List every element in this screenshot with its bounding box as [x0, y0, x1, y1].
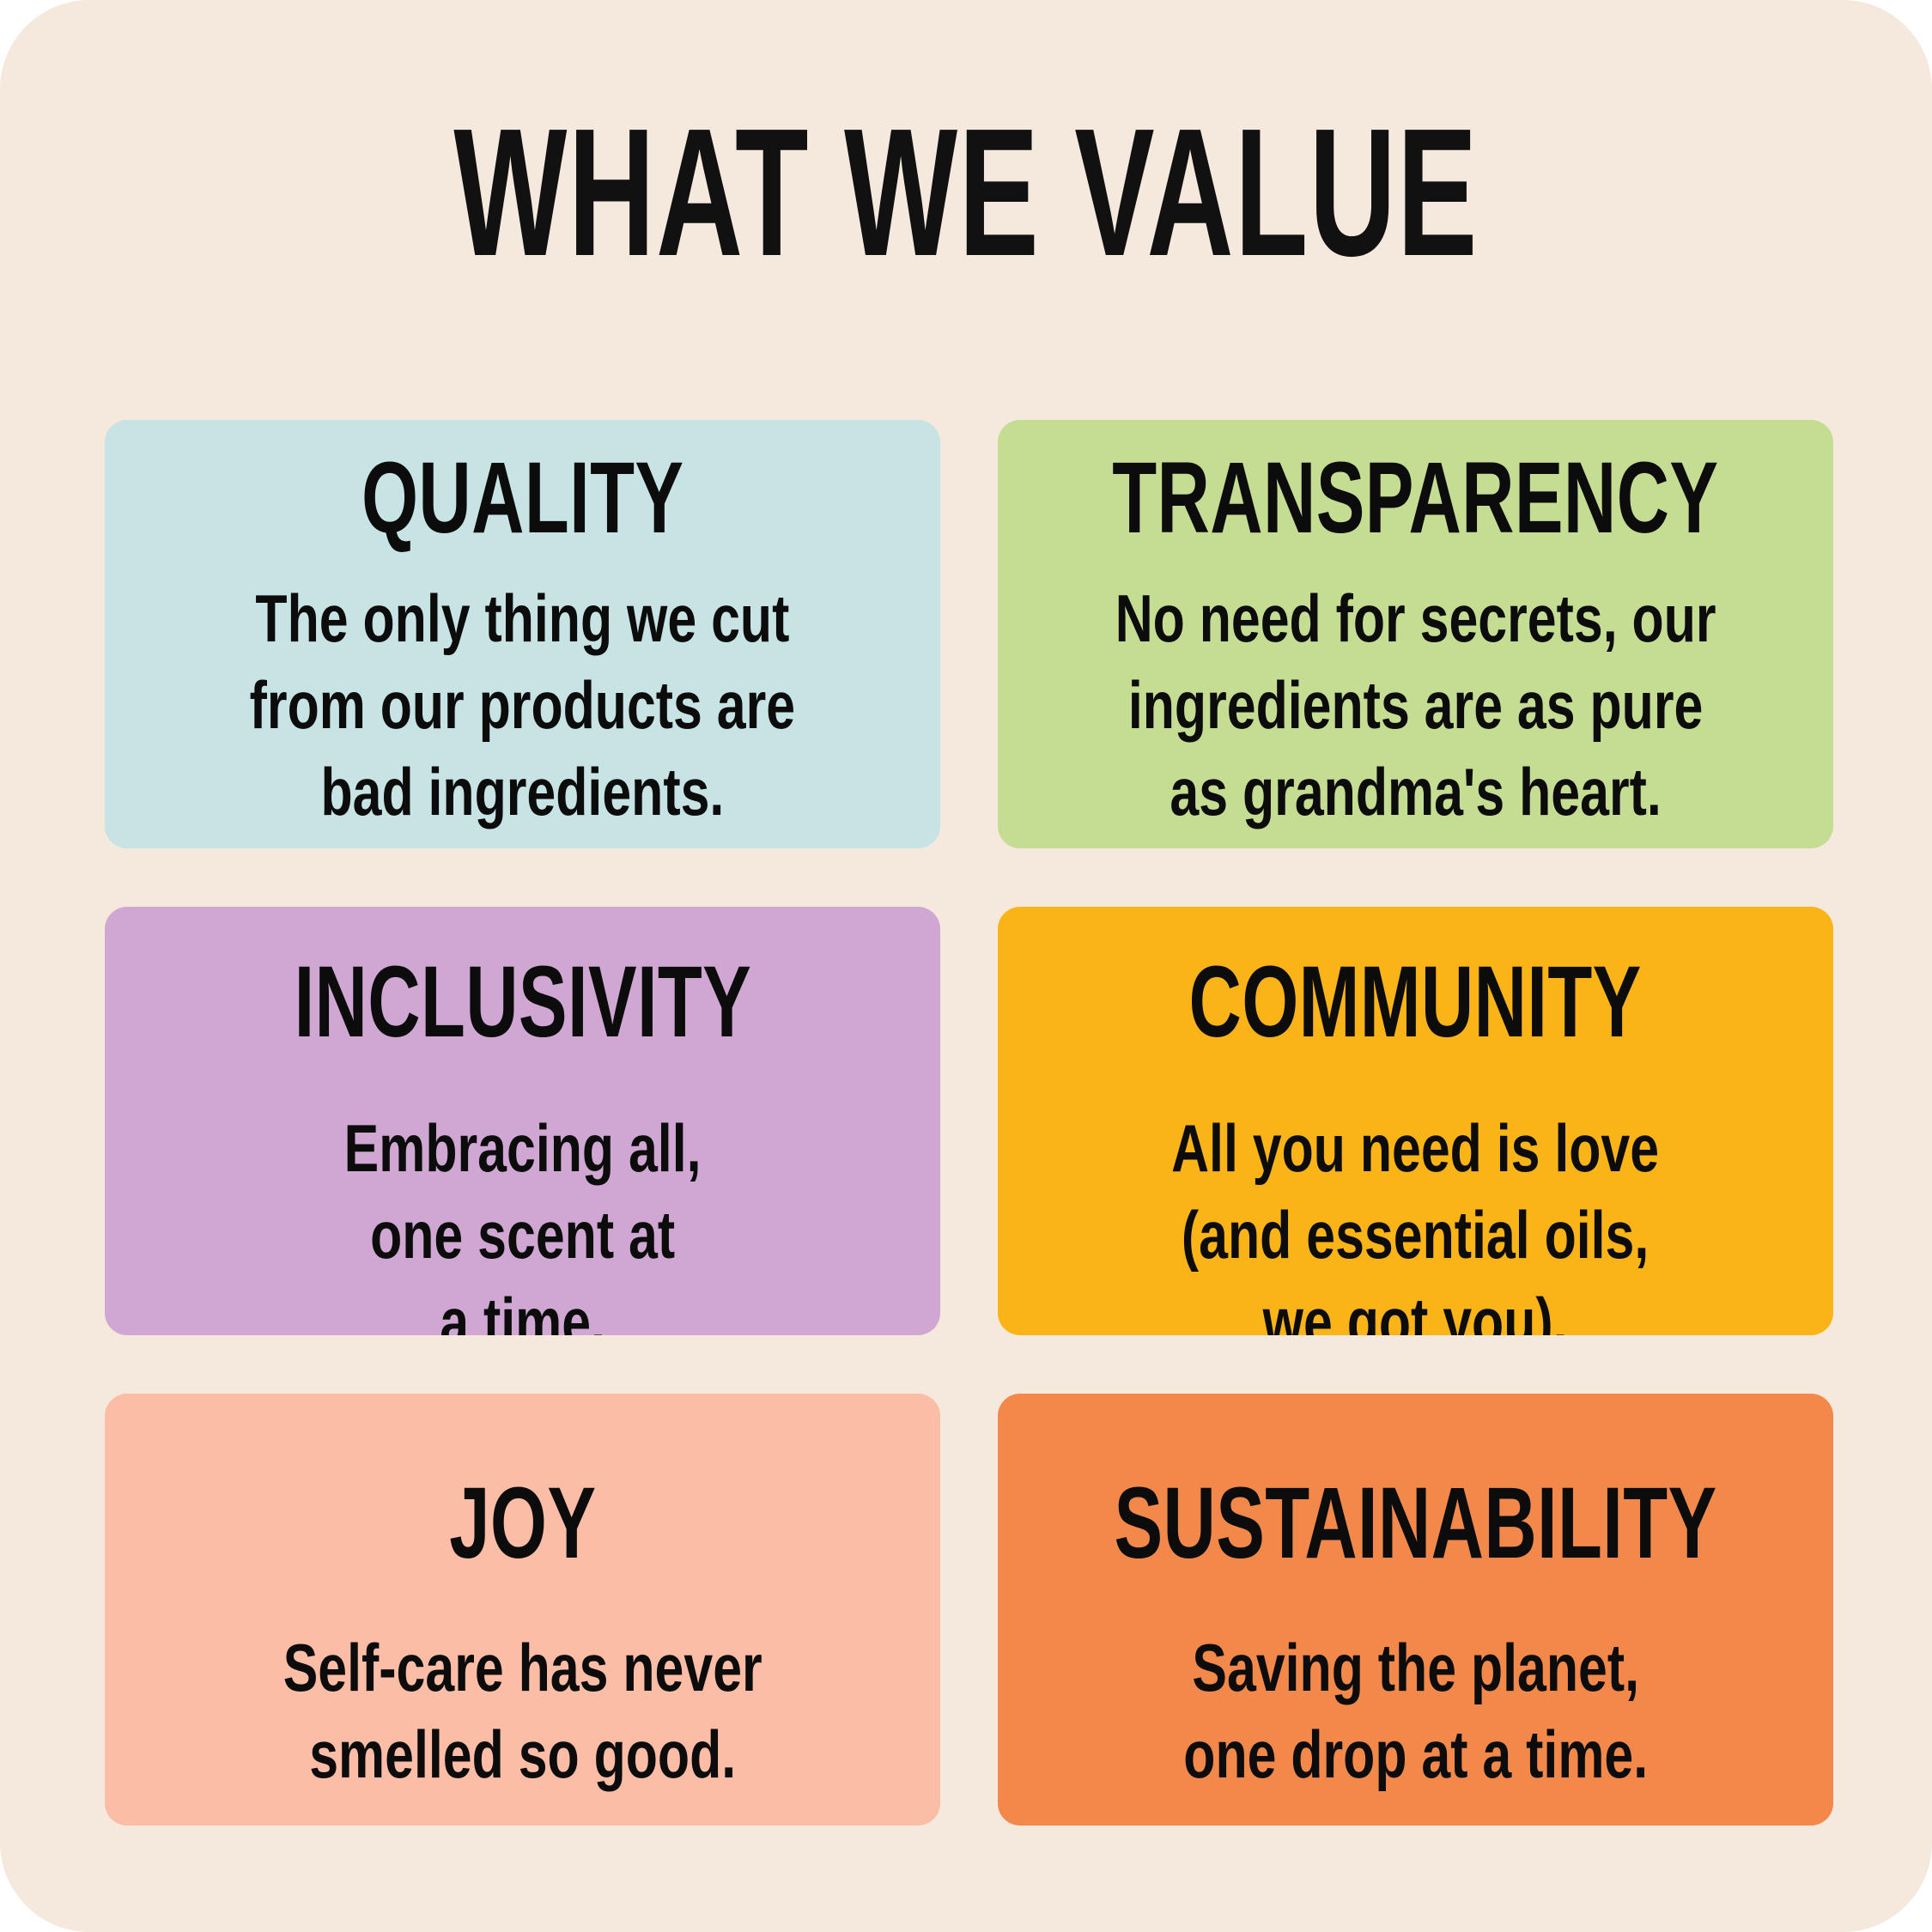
value-description-sustainability: Saving the planet, one drop at a time.: [1183, 1625, 1648, 1799]
value-title-joy: JOY: [449, 1466, 596, 1582]
values-poster: WHAT WE VALUE QUALITY The only thing we …: [0, 0, 1932, 1932]
value-description-joy: Self-care has never smelled so good.: [283, 1625, 762, 1799]
value-title-sustainability: SUSTAINABILITY: [1114, 1466, 1716, 1582]
value-card-transparency[interactable]: TRANSPARENCY No need for secrets, our in…: [998, 420, 1833, 848]
value-title-inclusivity: INCLUSIVITY: [294, 945, 751, 1060]
value-description-community: All you need is love (and essential oils…: [1171, 1105, 1659, 1335]
value-description-quality: The only thing we cut from our products …: [250, 575, 796, 836]
value-card-inclusivity[interactable]: INCLUSIVITY Embracing all, one scent at …: [105, 907, 940, 1335]
value-card-sustainability[interactable]: SUSTAINABILITY Saving the planet, one dr…: [998, 1394, 1833, 1826]
value-title-community: COMMUNITY: [1189, 945, 1642, 1060]
value-card-quality[interactable]: QUALITY The only thing we cut from our p…: [105, 420, 940, 848]
value-card-community[interactable]: COMMUNITY All you need is love (and esse…: [998, 907, 1833, 1335]
value-card-joy[interactable]: JOY Self-care has never smelled so good.: [105, 1394, 940, 1826]
page-title: WHAT WE VALUE: [329, 101, 1604, 283]
value-title-quality: QUALITY: [361, 440, 683, 556]
value-description-inclusivity: Embracing all, one scent at a time.: [344, 1105, 702, 1335]
value-title-transparency: TRANSPARENCY: [1112, 440, 1718, 556]
value-description-transparency: No need for secrets, our ingredients are…: [1115, 575, 1716, 836]
values-grid: QUALITY The only thing we cut from our p…: [105, 420, 1833, 1826]
